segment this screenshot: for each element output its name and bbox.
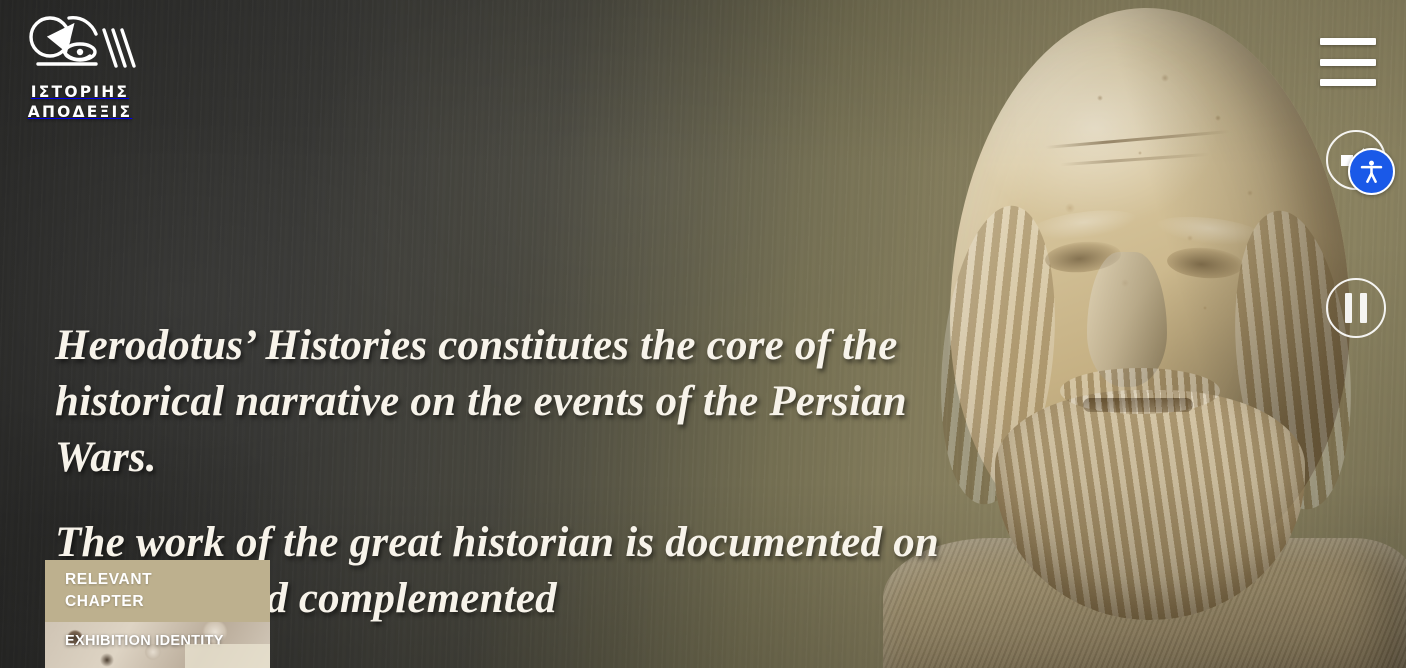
hamburger-bar-3: [1320, 79, 1376, 86]
accessibility-person-icon: [1357, 157, 1386, 186]
logo-word-line2: ΑΠΟΔΕΞΙΣ: [20, 102, 140, 122]
thumbnail-overlay-swatch: [185, 644, 270, 668]
relevant-chapter-card[interactable]: RELEVANT CHAPTER EXHIBITION IDENTITY: [45, 560, 270, 668]
pause-icon: [1345, 293, 1367, 323]
logo-word-line1: ΙΣΤΟΡΙΗΣ: [20, 82, 140, 102]
pause-bar-2: [1360, 293, 1367, 323]
greek-column-eye-emblem-icon: [20, 8, 140, 80]
accessibility-widget-button[interactable]: [1348, 148, 1395, 195]
relevant-chapter-heading: RELEVANT CHAPTER: [45, 560, 270, 622]
hero-stage: ΙΣΤΟΡΙΗΣ ΑΠΟΔΕΞΙΣ Herodotus: [0, 0, 1406, 668]
hamburger-bar-1: [1320, 38, 1376, 45]
hamburger-bar-2: [1320, 59, 1376, 66]
logo-wordmark: ΙΣΤΟΡΙΗΣ ΑΠΟΔΕΞΙΣ: [20, 82, 140, 122]
exhibition-identity-thumbnail[interactable]: EXHIBITION IDENTITY: [45, 622, 270, 668]
pause-button[interactable]: [1326, 278, 1386, 338]
relevant-chapter-heading-line1: RELEVANT: [65, 569, 270, 591]
hamburger-menu-icon[interactable]: [1320, 38, 1376, 86]
relevant-chapter-heading-line2: CHAPTER: [65, 591, 270, 613]
site-logo[interactable]: ΙΣΤΟΡΙΗΣ ΑΠΟΔΕΞΙΣ: [20, 8, 140, 123]
pause-bar-1: [1345, 293, 1352, 323]
hero-paragraph-1: Herodotus’ Histories constitutes the cor…: [55, 318, 955, 486]
